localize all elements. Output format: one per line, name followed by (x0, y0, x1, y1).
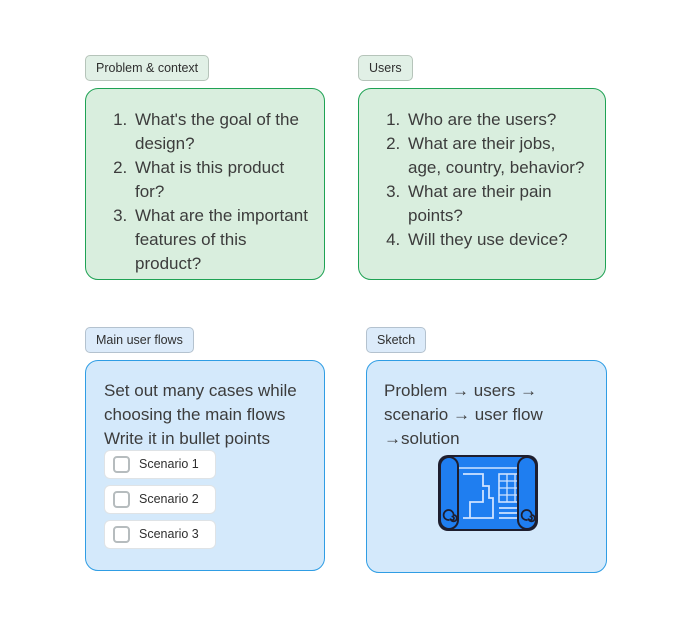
scenario-label: Scenario 2 (139, 493, 199, 506)
scenario-label: Scenario 1 (139, 458, 199, 471)
list-item: What are the important features of this … (132, 204, 310, 276)
question-list-users: Who are the users? What are their jobs, … (359, 108, 605, 252)
list-item: What are their pain points? (405, 180, 591, 228)
list-item: What are their jobs, age, country, behav… (405, 132, 591, 180)
card-main-user-flows[interactable]: Set out many cases while choosing the ma… (85, 360, 325, 571)
checkbox-icon[interactable] (113, 526, 130, 543)
list-item: What's the goal of the design? (132, 108, 310, 156)
section-chip-problem-context[interactable]: Problem & context (85, 55, 209, 81)
scenario-row-1[interactable]: Scenario 1 (104, 450, 216, 479)
checkbox-icon[interactable] (113, 491, 130, 508)
sketch-description: Problem → users → scenario → user flow →… (384, 379, 574, 451)
list-item: Will they use device? (405, 228, 591, 252)
blueprint-icon (435, 450, 541, 536)
question-list-problem-context: What's the goal of the design? What is t… (86, 108, 324, 276)
list-item: Who are the users? (405, 108, 591, 132)
design-brief-board: Problem & context What's the goal of the… (0, 0, 688, 621)
checkbox-icon[interactable] (113, 456, 130, 473)
section-chip-users[interactable]: Users (358, 55, 413, 81)
card-users[interactable]: Who are the users? What are their jobs, … (358, 88, 606, 280)
section-chip-main-user-flows[interactable]: Main user flows (85, 327, 194, 353)
card-sketch[interactable]: Problem → users → scenario → user flow →… (366, 360, 607, 573)
scenario-label: Scenario 3 (139, 528, 199, 541)
scenario-row-2[interactable]: Scenario 2 (104, 485, 216, 514)
card-problem-context[interactable]: What's the goal of the design? What is t… (85, 88, 325, 280)
section-chip-sketch[interactable]: Sketch (366, 327, 426, 353)
scenario-list: Scenario 1 Scenario 2 Scenario 3 (104, 450, 216, 549)
list-item: What is this product for? (132, 156, 310, 204)
scenario-row-3[interactable]: Scenario 3 (104, 520, 216, 549)
main-user-flows-description: Set out many cases while choosing the ma… (104, 379, 304, 451)
